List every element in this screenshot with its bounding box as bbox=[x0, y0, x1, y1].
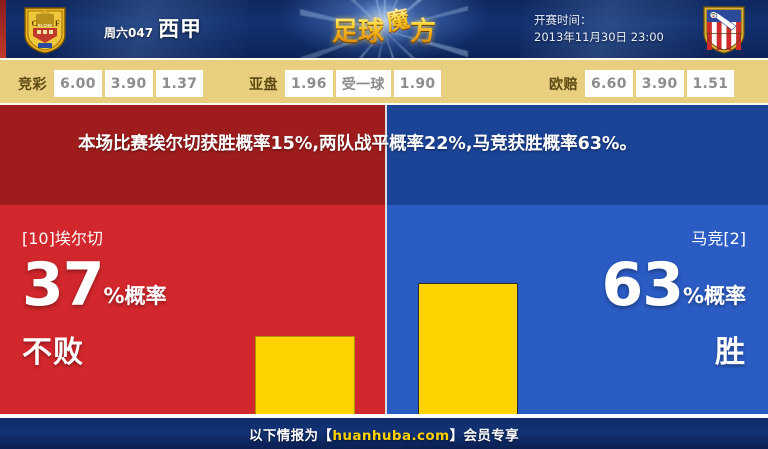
chart-bar-home bbox=[255, 336, 355, 414]
site-domain-link[interactable]: huanhuba.com bbox=[332, 428, 449, 444]
svg-text:C: C bbox=[32, 19, 38, 28]
header-left-accent-stripe bbox=[0, 0, 6, 58]
odds-group-label: 欧赔 bbox=[545, 70, 585, 97]
odds-value-home[interactable]: 6.00 bbox=[54, 70, 102, 97]
home-probability-number: 37 bbox=[22, 257, 104, 313]
home-probability-unit: %概率 bbox=[104, 284, 167, 313]
odds-group-oupei: 欧赔 6.60 3.90 1.51 bbox=[545, 70, 734, 97]
brand-text-part1: 足球 bbox=[332, 17, 384, 47]
odds-bar: 竞彩 6.00 3.90 1.37 亚盘 1.96 受一球 1.90 欧赔 6.… bbox=[0, 58, 768, 105]
home-verdict: 不败 bbox=[22, 327, 84, 371]
home-probability: 37 %概率 bbox=[22, 257, 167, 313]
match-probability-infographic: C F ELCHE 周六047 西甲 足球魔方 魔 开赛时间： 2013年11月… bbox=[0, 0, 768, 449]
round-number: 周六047 bbox=[104, 24, 153, 43]
handicap-value-away[interactable]: 1.90 bbox=[394, 70, 442, 97]
euro-odds-draw[interactable]: 3.90 bbox=[636, 70, 684, 97]
odds-value-away[interactable]: 1.37 bbox=[156, 70, 204, 97]
elche-cf-crest: C F ELCHE bbox=[22, 5, 68, 54]
svg-text:ELCHE: ELCHE bbox=[38, 23, 52, 28]
atletico-madrid-crest bbox=[702, 5, 746, 54]
home-team-panel: [10]埃尔切 37 %概率 不败 bbox=[0, 205, 385, 414]
away-verdict: 胜 bbox=[715, 327, 746, 371]
footer-bar: 以下情报为【huanhuba.com】会员专享 bbox=[0, 418, 768, 449]
away-probability-unit: %概率 bbox=[683, 284, 746, 313]
probability-summary-text: 本场比赛埃尔切获胜概率15%,两队战平概率22%,马竞获胜概率63%。 bbox=[78, 129, 718, 159]
home-team-name: [10]埃尔切 bbox=[22, 225, 103, 249]
league-name: 西甲 bbox=[158, 13, 202, 43]
brand-rotated-char: 魔 bbox=[380, 3, 416, 39]
odds-group-yapan: 亚盘 1.96 受一球 1.90 bbox=[245, 70, 441, 97]
away-team-name: 马竞[2] bbox=[691, 225, 746, 249]
league-heading: 周六047 西甲 bbox=[104, 13, 202, 43]
kickoff-value: 2013年11月30日 23:00 bbox=[534, 29, 664, 46]
odds-value-draw[interactable]: 3.90 bbox=[105, 70, 153, 97]
euro-odds-home[interactable]: 6.60 bbox=[585, 70, 633, 97]
brand-text-mo: 魔 bbox=[380, 3, 416, 39]
handicap-line[interactable]: 受一球 bbox=[336, 70, 391, 97]
away-probability: 63 %概率 bbox=[601, 257, 746, 313]
chart-bar-away bbox=[418, 283, 518, 414]
away-team-panel: 马竞[2] 63 %概率 胜 bbox=[387, 205, 768, 414]
away-probability-number: 63 bbox=[601, 257, 683, 313]
header-bar: C F ELCHE 周六047 西甲 足球魔方 魔 开赛时间： 2013年11月… bbox=[0, 0, 768, 58]
kickoff-time-block: 开赛时间： 2013年11月30日 23:00 bbox=[534, 12, 664, 46]
probability-summary-banner: 本场比赛埃尔切获胜概率15%,两队战平概率22%,马竞获胜概率63%。 bbox=[0, 105, 768, 205]
panel-divider bbox=[385, 205, 387, 414]
handicap-value-home[interactable]: 1.96 bbox=[285, 70, 333, 97]
odds-group-jingcai: 竞彩 6.00 3.90 1.37 bbox=[14, 70, 203, 97]
odds-group-label: 竞彩 bbox=[14, 70, 54, 97]
membership-notice: 以下情报为【huanhuba.com】会员专享 bbox=[249, 424, 519, 444]
kickoff-label: 开赛时间： bbox=[534, 12, 664, 29]
odds-group-label: 亚盘 bbox=[245, 70, 285, 97]
membership-notice-suffix: 】会员专享 bbox=[450, 428, 520, 444]
svg-text:F: F bbox=[55, 19, 60, 28]
membership-notice-prefix: 以下情报为【 bbox=[249, 428, 332, 444]
euro-odds-away[interactable]: 1.51 bbox=[687, 70, 735, 97]
